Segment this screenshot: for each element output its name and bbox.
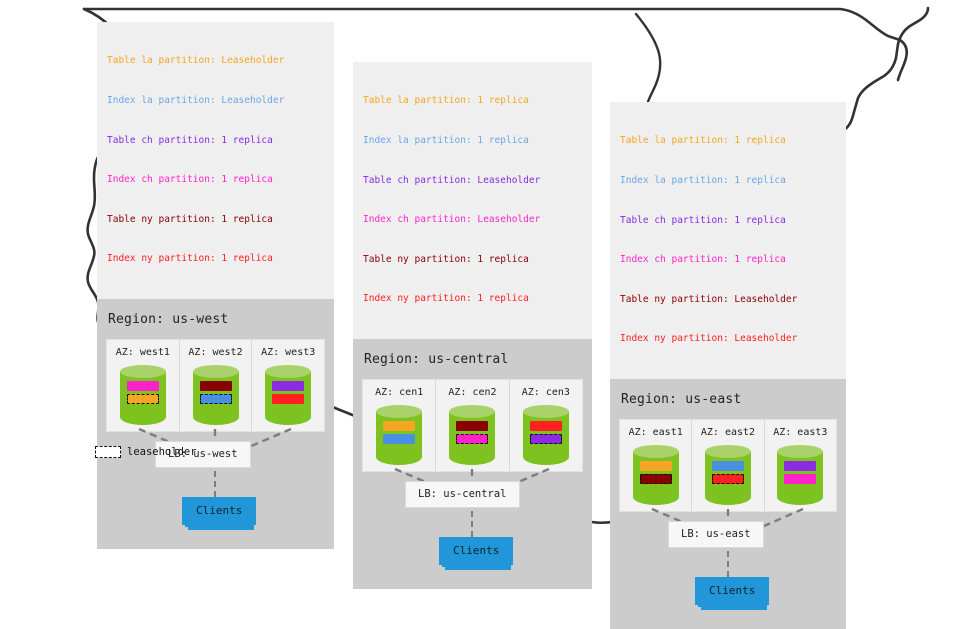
database-cylinder-west1[interactable] [120,365,166,425]
cylinder-top [120,365,166,378]
clients-node-us-central[interactable]: Clients [439,537,513,565]
region-title-us-central: Region: us-central [353,339,592,379]
az-cell-west2[interactable]: AZ: west2 [180,340,253,431]
database-cylinder-west2[interactable] [193,365,239,425]
partition-line-index-ch: Index ch partition: Leaseholder [363,213,582,226]
partition-bar-leaseholder [530,434,562,444]
partition-bars-east2 [705,461,751,487]
partition-line-index-ch: Index ch partition: 1 replica [620,253,836,266]
clients-node-us-west[interactable]: Clients [182,497,256,525]
az-label-east1: AZ: east1 [620,427,691,438]
partition-bar-leaseholder [712,474,744,484]
partition-line-index-ny: Index ny partition: Leaseholder [620,332,836,345]
partition-line-table-ny: Table ny partition: 1 replica [107,213,324,226]
database-cylinder-cen3[interactable] [523,405,569,465]
clients-label-us-east[interactable]: Clients [695,577,769,605]
partition-bar [784,461,816,471]
partition-bar [200,381,232,391]
partition-bars-west1 [120,381,166,407]
partition-line-index-ny: Index ny partition: 1 replica [363,292,582,305]
az-row-us-central: AZ: cen1 AZ: cen2 [362,379,583,472]
az-label-east3: AZ: east3 [765,427,836,438]
cylinder-top [633,445,679,458]
partition-line-index-la: Index la partition: Leaseholder [107,94,324,107]
region-title-us-west: Region: us-west [97,299,334,339]
lb-to-clients-line-us-central [471,511,473,537]
region-cluster-us-central: Table la partition: 1 replica Index la p… [353,62,592,589]
region-title-us-east: Region: us-east [610,379,846,419]
region-cluster-us-east: Table la partition: 1 replica Index la p… [610,102,846,629]
partition-line-table-ch: Table ch partition: Leaseholder [363,174,582,187]
partition-bar [383,421,415,431]
clients-node-us-east[interactable]: Clients [695,577,769,605]
az-cell-east3[interactable]: AZ: east3 [765,420,836,511]
partition-bar [383,434,415,444]
az-cell-cen1[interactable]: AZ: cen1 [363,380,436,471]
partition-line-table-la: Table la partition: 1 replica [363,94,582,107]
partition-line-index-la: Index la partition: 1 replica [620,174,836,187]
az-row-us-west: AZ: west1 AZ: west2 [106,339,325,432]
database-cylinder-east2[interactable] [705,445,751,505]
lb-to-clients-line-us-west [214,471,216,497]
az-cell-east1[interactable]: AZ: east1 [620,420,692,511]
partition-legend-us-central: Table la partition: 1 replica Index la p… [353,62,592,339]
az-cell-west1[interactable]: AZ: west1 [107,340,180,431]
az-cell-cen2[interactable]: AZ: cen2 [436,380,509,471]
az-cell-west3[interactable]: AZ: west3 [252,340,324,431]
partition-bar [640,461,672,471]
az-label-east2: AZ: east2 [692,427,763,438]
partition-bar-leaseholder [127,394,159,404]
partition-bar-leaseholder [456,434,488,444]
leaseholder-legend: leaseholder [95,446,197,458]
load-balancer-us-east[interactable]: LB: us-east [668,521,764,548]
region-cluster-us-west: Table la partition: Leaseholder Index la… [97,22,334,549]
database-cylinder-cen2[interactable] [449,405,495,465]
partition-bars-east1 [633,461,679,487]
dashed-rectangle-icon [95,446,121,458]
cylinder-top [193,365,239,378]
partition-bar [784,474,816,484]
az-label-cen2: AZ: cen2 [436,387,508,398]
partition-bar [712,461,744,471]
partition-bar-leaseholder [200,394,232,404]
partition-legend-us-west: Table la partition: Leaseholder Index la… [97,22,334,299]
load-balancer-us-central[interactable]: LB: us-central [405,481,520,508]
leaseholder-legend-label: leaseholder [127,446,197,458]
database-cylinder-cen1[interactable] [376,405,422,465]
region-box-us-central: Region: us-central AZ: cen1 AZ: cen2 [353,339,592,589]
partition-line-table-ny: Table ny partition: Leaseholder [620,293,836,306]
partition-bar-leaseholder [640,474,672,484]
partition-bar [272,394,304,404]
region-box-us-west: Region: us-west AZ: west1 AZ: west2 [97,299,334,549]
partition-line-table-ch: Table ch partition: 1 replica [107,134,324,147]
database-cylinder-east1[interactable] [633,445,679,505]
lb-to-clients-line-us-east [727,551,729,577]
partition-bar [127,381,159,391]
az-label-cen3: AZ: cen3 [510,387,582,398]
az-label-cen1: AZ: cen1 [363,387,435,398]
database-cylinder-west3[interactable] [265,365,311,425]
az-row-us-east: AZ: east1 AZ: east2 [619,419,837,512]
partition-line-table-la: Table la partition: Leaseholder [107,54,324,67]
az-label-west1: AZ: west1 [107,347,179,358]
partition-line-table-ny: Table ny partition: 1 replica [363,253,582,266]
partition-bars-east3 [777,461,823,487]
partition-bars-cen3 [523,421,569,447]
az-cell-cen3[interactable]: AZ: cen3 [510,380,582,471]
partition-bars-cen1 [376,421,422,447]
partition-line-index-la: Index la partition: 1 replica [363,134,582,147]
partition-bar [456,421,488,431]
partition-bar [530,421,562,431]
clients-label-us-central[interactable]: Clients [439,537,513,565]
partition-bars-west3 [265,381,311,407]
az-label-west3: AZ: west3 [252,347,324,358]
partition-line-index-ny: Index ny partition: 1 replica [107,252,324,265]
az-label-west2: AZ: west2 [180,347,252,358]
cylinder-top [523,405,569,418]
partition-line-table-ch: Table ch partition: 1 replica [620,214,836,227]
partition-line-index-ch: Index ch partition: 1 replica [107,173,324,186]
partition-bars-cen2 [449,421,495,447]
region-box-us-east: Region: us-east AZ: east1 AZ: east2 [610,379,846,629]
cylinder-top [705,445,751,458]
partition-bars-west2 [193,381,239,407]
partition-line-table-la: Table la partition: 1 replica [620,134,836,147]
partition-bar [272,381,304,391]
partition-legend-us-east: Table la partition: 1 replica Index la p… [610,102,846,379]
az-cell-east2[interactable]: AZ: east2 [692,420,764,511]
database-cylinder-east3[interactable] [777,445,823,505]
clients-label-us-west[interactable]: Clients [182,497,256,525]
